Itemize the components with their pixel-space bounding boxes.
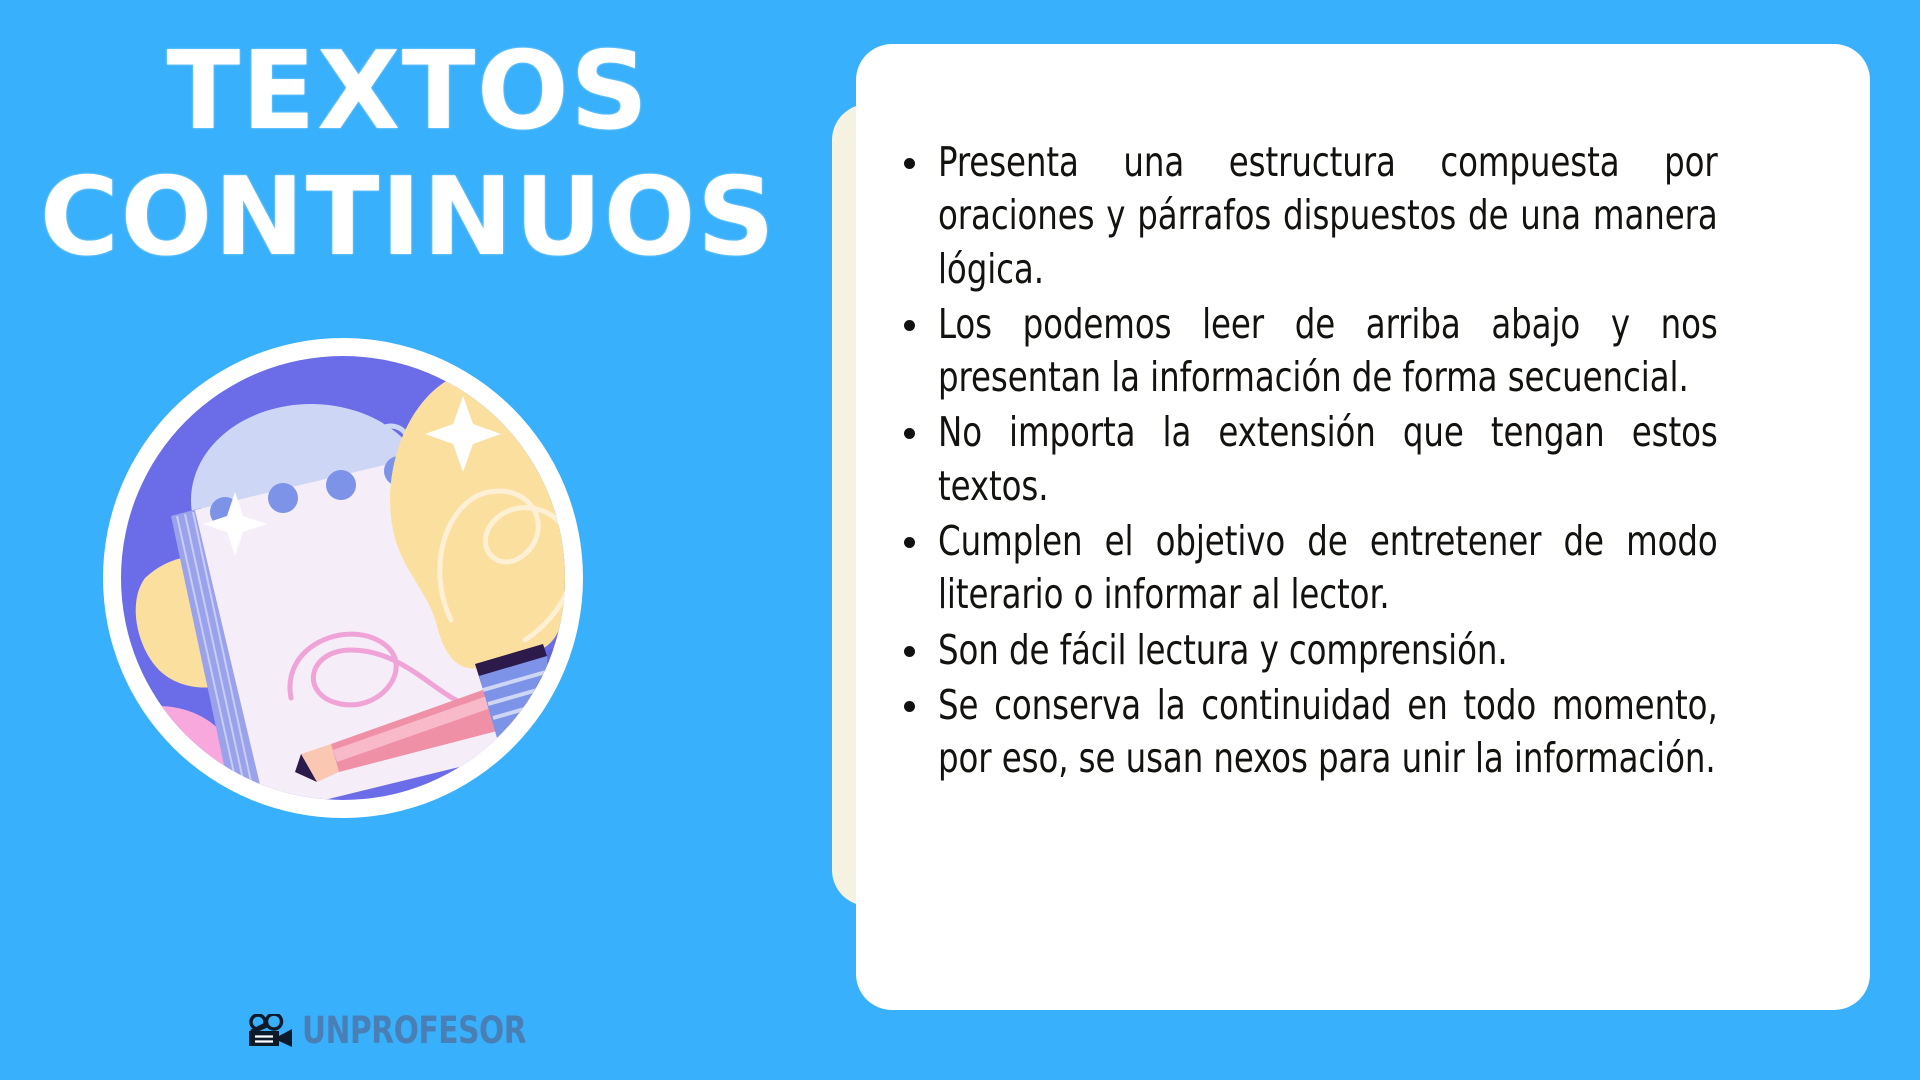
bullet-dot-icon: [904, 624, 938, 662]
page-title: TEXTOS CONTINUOS: [0, 38, 830, 272]
list-item: Son de fácil lectura y comprensión.: [904, 624, 1824, 677]
content-card: Presenta una estructura compuesta por or…: [856, 44, 1870, 1010]
illustration-scene: [95, 320, 595, 840]
list-item-text: Cumplen el objetivo de entretener de mod…: [938, 515, 1718, 622]
list-item: Presenta una estructura compuesta por or…: [904, 136, 1824, 296]
list-item: No importa la extensión que tengan estos…: [904, 406, 1824, 513]
title-line-1: TEXTOS: [0, 38, 816, 146]
brand-logo: UNPROFESOR: [0, 1012, 830, 1049]
bullet-dot-icon: [904, 298, 938, 336]
left-column: TEXTOS CONTINUOS: [0, 0, 830, 1080]
bullet-list: Presenta una estructura compuesta por or…: [904, 136, 1824, 788]
bullet-dot-icon: [904, 406, 938, 444]
list-item-text: No importa la extensión que tengan estos…: [938, 406, 1718, 513]
list-item-text: Se conserva la continuidad en todo momen…: [938, 679, 1718, 786]
list-item: Se conserva la continuidad en todo momen…: [904, 679, 1824, 786]
bullet-dot-icon: [904, 515, 938, 553]
list-item: Cumplen el objetivo de entretener de mod…: [904, 515, 1824, 622]
list-item-text: Son de fácil lectura y comprensión.: [938, 624, 1718, 677]
illustration-notepad-lightbulb: [95, 320, 595, 840]
brand-name: UNPROFESOR: [302, 1012, 526, 1049]
bullet-dot-icon: [904, 679, 938, 717]
illustration-svg: [95, 320, 595, 840]
list-item-text: Presenta una estructura compuesta por or…: [938, 136, 1718, 296]
bullet-dot-icon: [904, 136, 938, 174]
video-camera-icon: [247, 1014, 293, 1048]
list-item: Los podemos leer de arriba abajo y nos p…: [904, 298, 1824, 405]
title-line-2: CONTINUOS: [0, 164, 816, 272]
list-item-text: Los podemos leer de arriba abajo y nos p…: [938, 298, 1718, 405]
infographic-canvas: TEXTOS CONTINUOS: [0, 0, 1920, 1080]
blob-pink-dots: [129, 755, 196, 831]
